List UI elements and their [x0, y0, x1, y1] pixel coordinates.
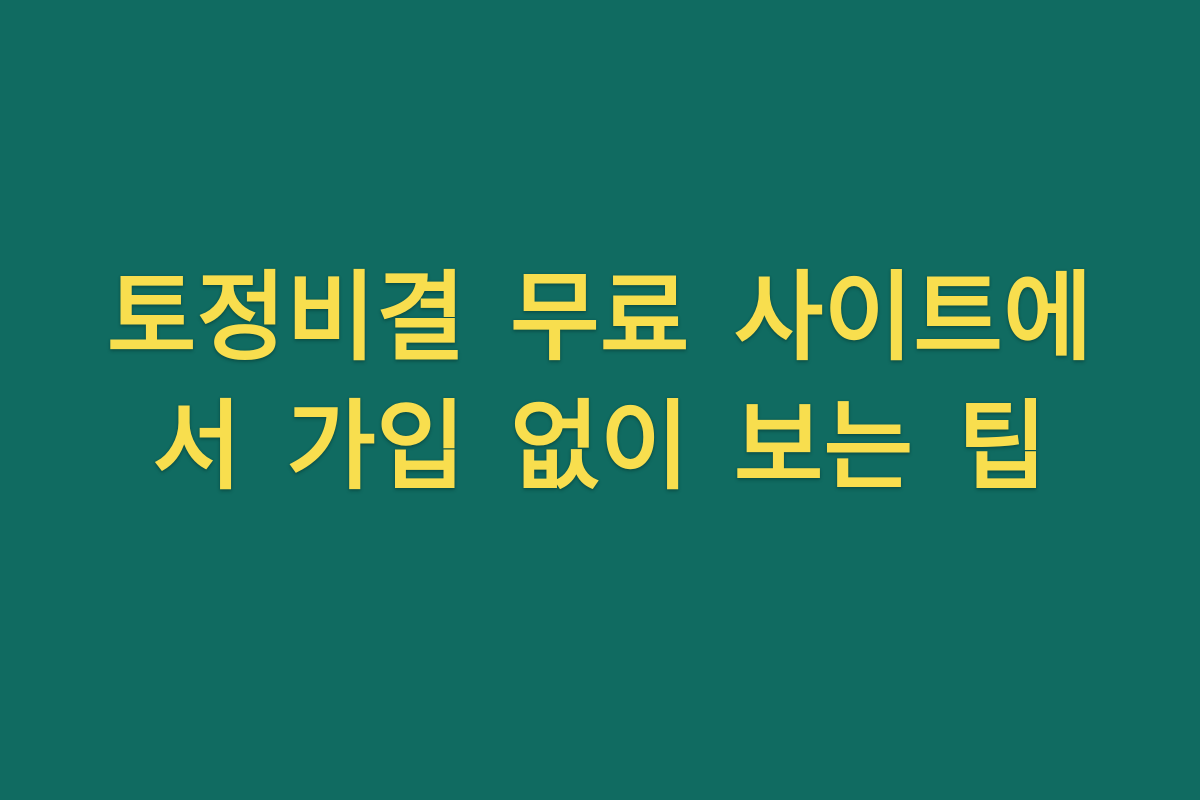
headline-text-block: 토정비결 무료 사이트에 서 가입 없이 보는 팁	[95, 253, 1105, 511]
headline-line-1: 토정비결 무료 사이트에	[95, 253, 1105, 382]
headline-line-2: 서 가입 없이 보는 팁	[95, 382, 1105, 511]
banner-canvas: 토정비결 무료 사이트에 서 가입 없이 보는 팁	[0, 0, 1200, 800]
